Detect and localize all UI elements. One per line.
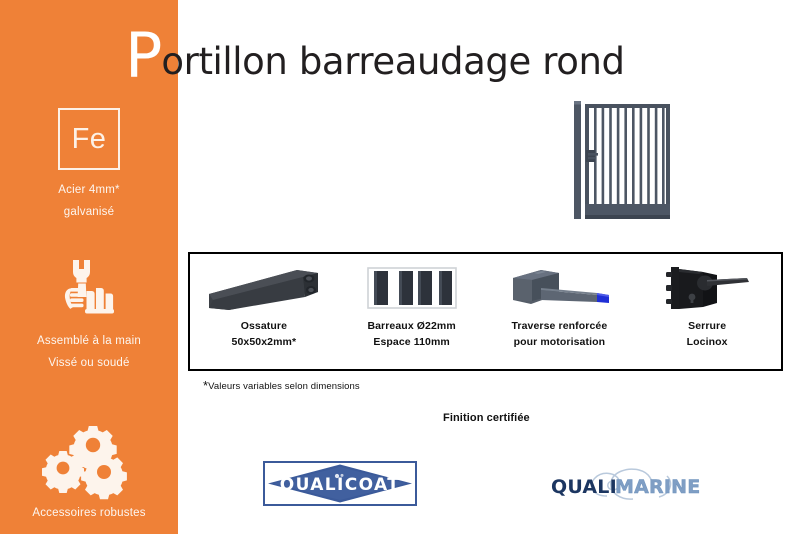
page-title-initial: P bbox=[125, 25, 162, 87]
page-title-rest: ortillon barreaudage rond bbox=[161, 43, 624, 80]
gears-icon bbox=[0, 424, 178, 494]
component-traverse-caption: Traverse renforcée bbox=[511, 318, 607, 334]
component-ossature: Ossature 50x50x2mm* bbox=[190, 254, 338, 369]
product-sheet-page: Fe Acier 4mm* galvanisé bbox=[0, 0, 800, 534]
qualimarine-wordmark-part2: MARINE bbox=[615, 476, 700, 498]
fe-element-box-icon: Fe bbox=[58, 108, 120, 170]
qualicoat-wordmark: QUALICOAT bbox=[280, 475, 401, 495]
page-title: P ortillon barreaudage rond bbox=[125, 22, 625, 84]
footnote-text: Valeurs variables selon dimensions bbox=[208, 381, 360, 392]
footnote: *Valeurs variables selon dimensions bbox=[203, 381, 360, 393]
certification-heading: Finition certifiée bbox=[443, 412, 530, 424]
component-serrure: Serrure Locinox bbox=[633, 254, 781, 369]
component-serrure-caption: Serrure bbox=[688, 318, 726, 334]
component-ossature-caption: Ossature bbox=[241, 318, 287, 334]
component-traverse-spec: pour motorisation bbox=[514, 334, 606, 350]
feature-assembly-line1: Assemblé à la main bbox=[0, 330, 178, 352]
component-ossature-spec: 50x50x2mm* bbox=[232, 334, 297, 350]
feature-accessories-line1: Accessoires robustes bbox=[0, 502, 178, 524]
feature-steel-line1: Acier 4mm* bbox=[0, 179, 178, 201]
qualimarine-wordmark-part1: QUALI bbox=[551, 476, 617, 498]
component-barreaux: Barreaux Ø22mm Espace 110mm bbox=[338, 254, 486, 369]
qualicoat-logo: QUALICOAT bbox=[263, 461, 417, 506]
footnote-asterisk: * bbox=[203, 378, 208, 393]
feature-block-accessories: Accessoires robustes bbox=[0, 424, 178, 524]
component-serrure-brand: Locinox bbox=[687, 334, 728, 350]
component-barreaux-caption: Barreaux Ø22mm bbox=[367, 318, 455, 334]
steel-frame-profile-icon bbox=[205, 262, 323, 314]
component-traverse: Traverse renforcée pour motorisation bbox=[486, 254, 634, 369]
qualimarine-logo: QUALI MARINE bbox=[537, 466, 709, 504]
round-bars-icon bbox=[363, 262, 461, 314]
feature-steel-line2: galvanisé bbox=[0, 201, 178, 223]
feature-block-assembly: Assemblé à la main Vissé ou soudé bbox=[0, 256, 178, 375]
fe-badge-label: Fe bbox=[72, 125, 107, 154]
hand-holding-wrench-icon bbox=[0, 256, 178, 322]
feature-block-steel: Fe Acier 4mm* galvanisé bbox=[0, 108, 178, 224]
locinox-lock-icon bbox=[655, 262, 759, 314]
feature-assembly-line2: Vissé ou soudé bbox=[0, 352, 178, 374]
reinforced-crossbar-icon bbox=[501, 262, 617, 314]
portillon-gate-photo bbox=[574, 98, 670, 219]
components-panel: Ossature 50x50x2mm* bbox=[188, 252, 783, 371]
component-barreaux-spec: Espace 110mm bbox=[373, 334, 450, 350]
